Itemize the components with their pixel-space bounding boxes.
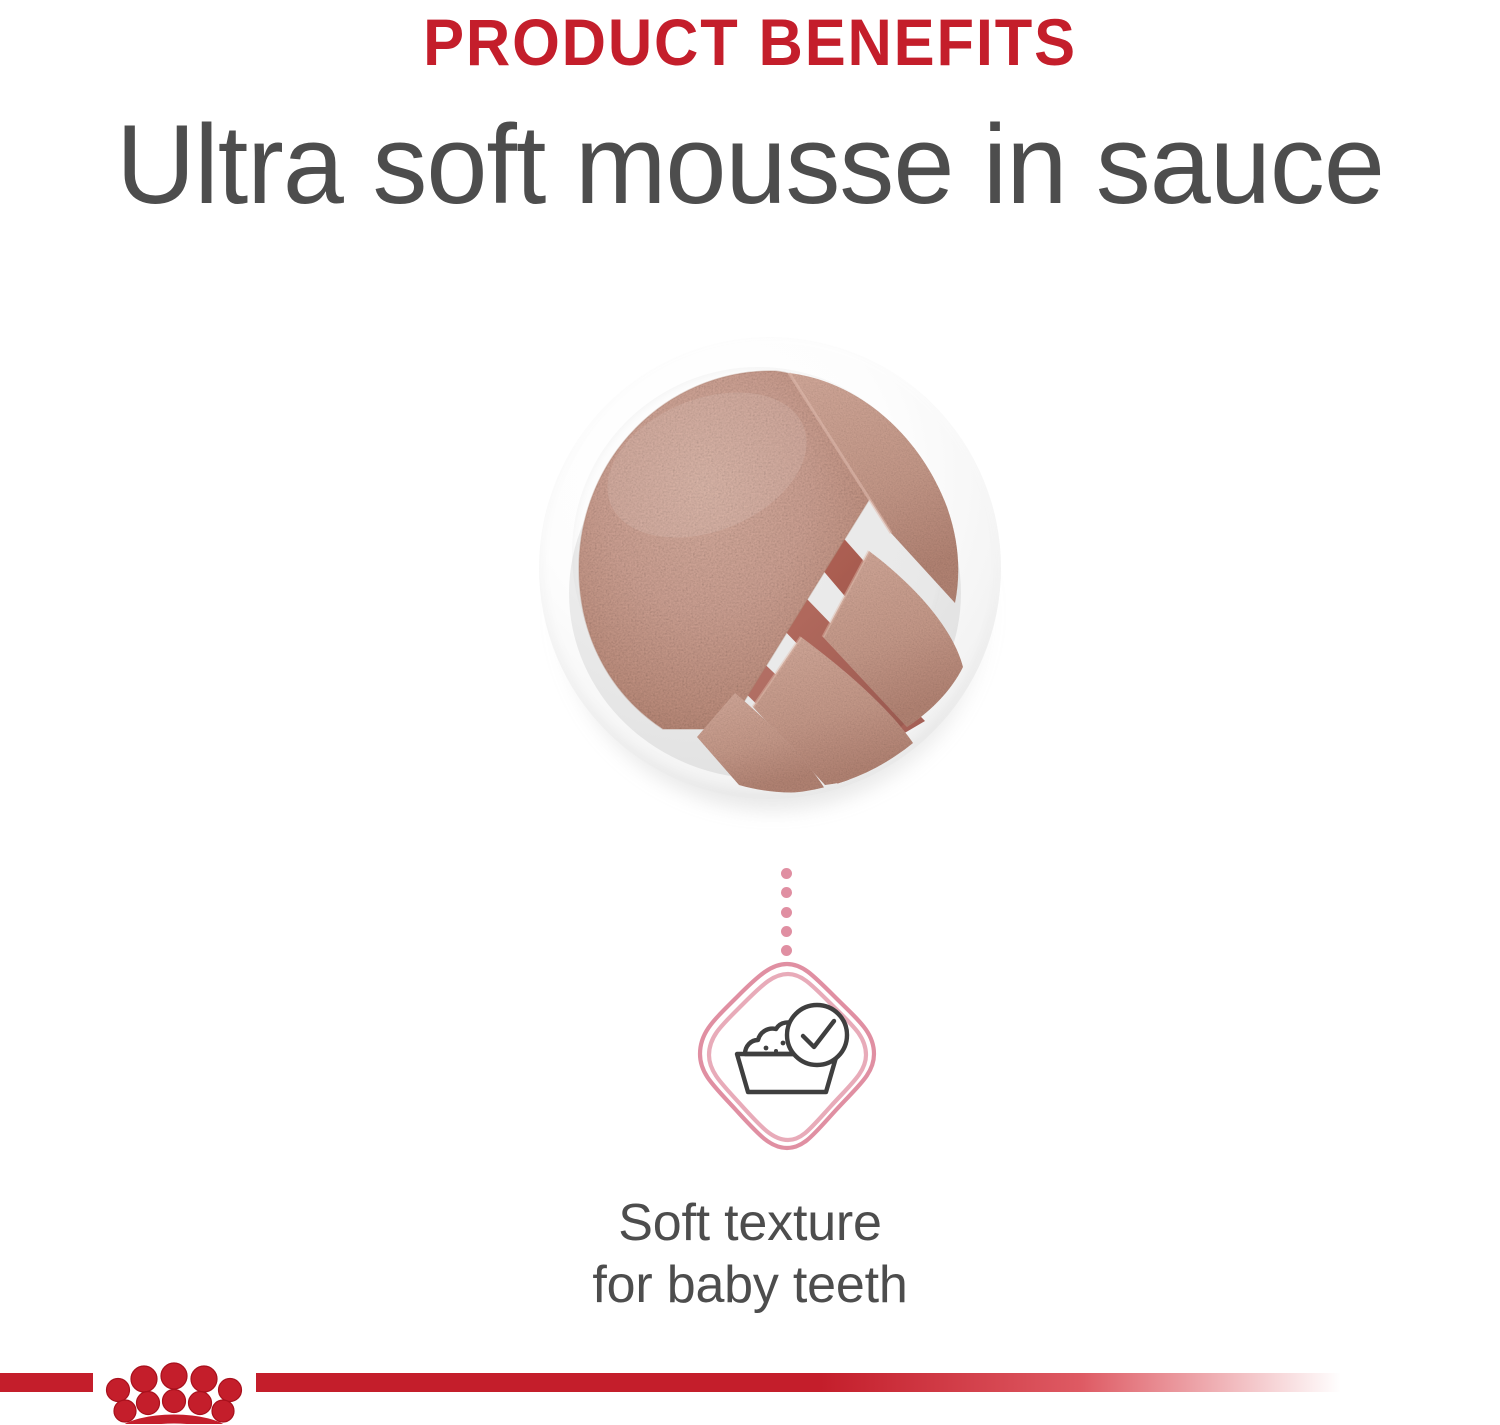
footer-rule-right xyxy=(256,1373,1341,1392)
benefit-caption: Soft texture for baby teeth xyxy=(0,1192,1500,1316)
benefit-caption-line-2: for baby teeth xyxy=(0,1254,1500,1316)
footer-bar xyxy=(0,1370,1500,1425)
benefit-badge xyxy=(694,958,880,1154)
connector-dot xyxy=(781,887,792,898)
royal-canin-crown-logo xyxy=(96,1346,252,1424)
product-hero-image xyxy=(525,325,1017,825)
header: PRODUCT BENEFITS Ultra soft mousse in sa… xyxy=(0,0,1500,224)
mousse-pate-food xyxy=(539,337,1001,799)
connector-dot xyxy=(781,926,792,937)
page-subtitle: Ultra soft mousse in sauce xyxy=(15,78,1485,224)
dotted-connector xyxy=(775,868,797,956)
connector-dot xyxy=(781,868,792,879)
connector-dot xyxy=(781,945,792,956)
benefit-caption-line-1: Soft texture xyxy=(0,1192,1500,1254)
footer-rule-left xyxy=(0,1373,93,1392)
connector-dot xyxy=(781,907,792,918)
page-title: PRODUCT BENEFITS xyxy=(53,0,1448,78)
